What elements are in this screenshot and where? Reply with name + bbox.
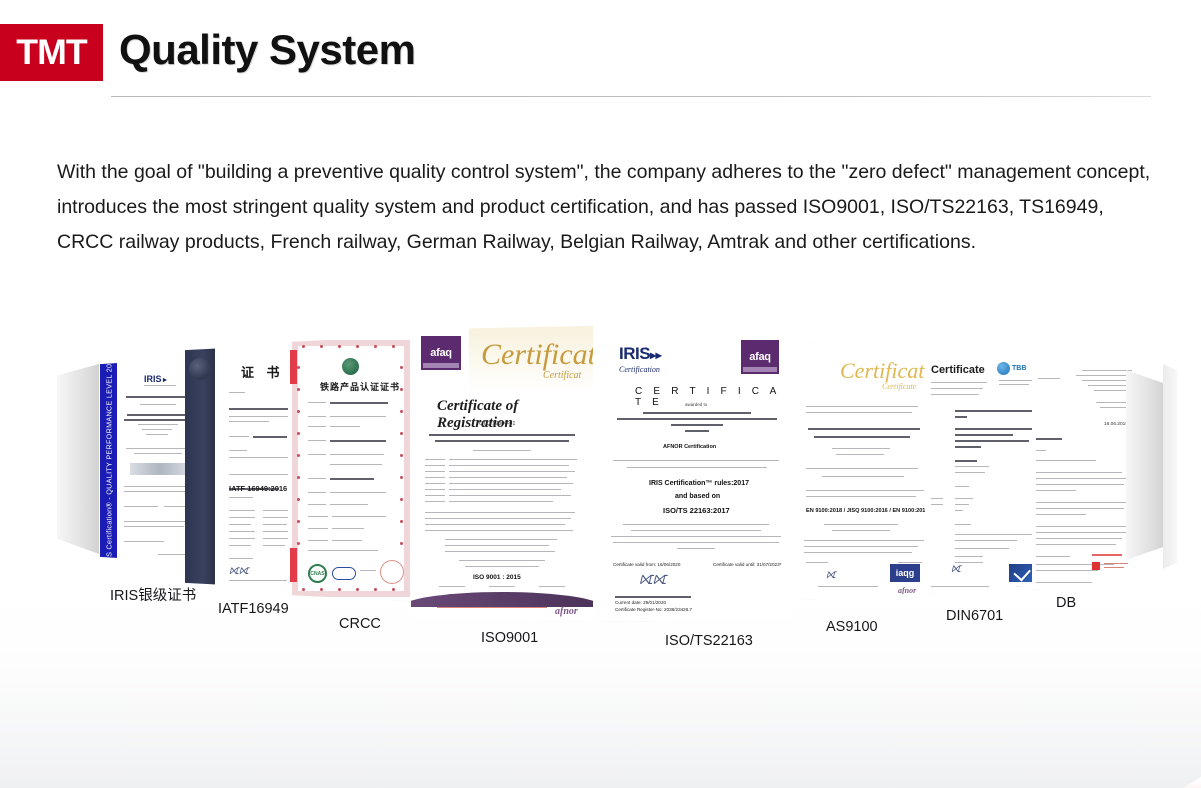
iris-side-band: IRIS Certification® - QUALITY PERFORMANC… xyxy=(100,358,117,563)
carousel-left-fan-panel xyxy=(57,364,99,554)
as9100-certificate-sub: Certificate xyxy=(882,382,916,391)
iso-ts-body-org: AFNOR Certification xyxy=(663,444,716,450)
carousel-right-fan-panel-outer xyxy=(1163,364,1177,569)
iso-ts-valid-from: Certificate valid from: 16/06/2020 xyxy=(613,562,680,567)
intro-paragraph: With the goal of "building a preventive … xyxy=(57,155,1152,260)
iso-ts-based-on: and based on xyxy=(675,493,720,500)
iatf-signature: ⟖⟖ xyxy=(229,562,249,578)
iris-hologram xyxy=(130,463,190,475)
certificate-as9100[interactable]: Certificat Certificate EN 9100:2018 / JI… xyxy=(798,342,936,600)
iatf-navy-band xyxy=(185,344,215,589)
as9100-standard: EN 9100:2018 / JISQ 9100:2016 / EN 9100:… xyxy=(806,508,929,514)
page-title: Quality System xyxy=(119,26,415,74)
cert-label-iso-ts22163: ISO/TS22163 xyxy=(665,633,753,649)
certificate-crcc[interactable]: 铁路产品认证证书 CNAS xyxy=(288,336,414,601)
certificate-db[interactable]: 16.06.2019 xyxy=(1032,354,1140,590)
iso-ts-rules: IRIS Certification™ rules:2017 xyxy=(649,480,749,487)
crcc-title-cn: 铁路产品认证证书 xyxy=(320,380,400,393)
din6701-certificate-word: Certificate xyxy=(931,364,985,376)
iso9001-cert-no: CTQ/17006-01 xyxy=(479,421,515,427)
afaq-logo-text: afaq xyxy=(430,347,451,359)
as9100-afnor-mark: afnor xyxy=(898,586,916,595)
as9100-certificat-word: Certificat xyxy=(840,358,924,384)
afaq-logo-ts: afaq xyxy=(741,340,779,374)
db-date: 16.06.2019 xyxy=(1104,422,1128,427)
iso-ts-current-date: Current date: 29/01/2020 xyxy=(615,600,666,605)
cert-label-crcc: CRCC xyxy=(339,616,381,632)
iso-ts-valid-until: Certificate valid until: 31/07/2023* xyxy=(713,562,781,567)
iatf-standard: IATF 16949:2016 xyxy=(229,484,287,493)
afaq-logo-ts-text: afaq xyxy=(749,351,770,363)
cert-label-din6701: DIN6701 xyxy=(946,608,1003,624)
slide-root: TMT Quality System With the goal of "bui… xyxy=(0,0,1201,788)
cert-label-as9100: AS9100 xyxy=(826,619,878,635)
iso9001-standard: ISO 9001 : 2015 xyxy=(473,574,521,581)
iaqg-logo: iaqg xyxy=(890,564,920,582)
iso9001-certificat-sub: Certificat xyxy=(543,370,581,381)
iris-ts-brand-sub: Certification xyxy=(619,365,660,374)
tmt-logo-text: TMT xyxy=(16,35,86,70)
iris-side-band-text: IRIS Certification® - QUALITY PERFORMANC… xyxy=(104,358,113,563)
iso-ts-standard: ISO/TS 22163:2017 xyxy=(663,506,730,515)
tmt-logo: TMT xyxy=(0,24,103,81)
crcc-cnas-wordmark xyxy=(332,567,356,580)
crcc-red-stamp xyxy=(380,560,404,584)
iso9001-certificate-word: Certificate xyxy=(481,338,593,372)
din6701-badge xyxy=(1009,564,1035,582)
header-divider xyxy=(111,96,1151,97)
cert-label-iatf16949: IATF16949 xyxy=(218,601,289,617)
cert-label-db: DB xyxy=(1056,595,1076,611)
din6701-signature: ⟖ xyxy=(951,560,961,576)
crcc-cnas-mark: CNAS xyxy=(308,564,327,583)
db-red-note xyxy=(1092,554,1122,556)
afnor-mark: afnor xyxy=(555,606,578,617)
iso-ts-heading: C E R T I F I C A T E xyxy=(635,386,791,408)
certificate-iatf16949[interactable]: 证 书 IATF 16949:2016 ⟖ xyxy=(185,344,303,589)
slide-header: TMT Quality System xyxy=(0,0,1201,110)
certificate-iso-ts22163[interactable]: IRIS▸▸ Certification afaq C E R T I F I … xyxy=(601,330,791,622)
db-red-logo xyxy=(1092,562,1100,570)
crcc-emblem xyxy=(342,358,359,375)
certificate-iso9001[interactable]: afaq Certificate Certificat Certificate … xyxy=(411,326,593,622)
carousel-right-fan-panel xyxy=(1126,370,1164,560)
as9100-signature: ⟖ xyxy=(826,566,836,582)
iatf-title-cn: 证 书 xyxy=(241,362,284,381)
iso-ts-awarded-to: awarded to xyxy=(685,402,707,407)
certificate-din6701[interactable]: Certificate TBB xyxy=(925,348,1045,594)
cert-label-iso9001: ISO9001 xyxy=(481,630,538,646)
afaq-logo: afaq xyxy=(421,336,461,370)
iso-ts-signature: ⟖⟖ xyxy=(639,568,666,589)
iso-ts-register-no: Certificate Register-No: 2038/23426.7 xyxy=(615,607,692,612)
certificate-carousel: IRIS Certification® - QUALITY PERFORMANC… xyxy=(0,318,1201,648)
iris-ts-brand: IRIS▸▸ xyxy=(619,344,661,364)
tbb-cert-logo: TBB xyxy=(997,362,1026,375)
cert-label-iris-silver: IRIS银级证书 xyxy=(110,584,196,605)
iatf-seal xyxy=(189,358,211,380)
iris-brand-mark: IRIS► xyxy=(144,374,168,384)
